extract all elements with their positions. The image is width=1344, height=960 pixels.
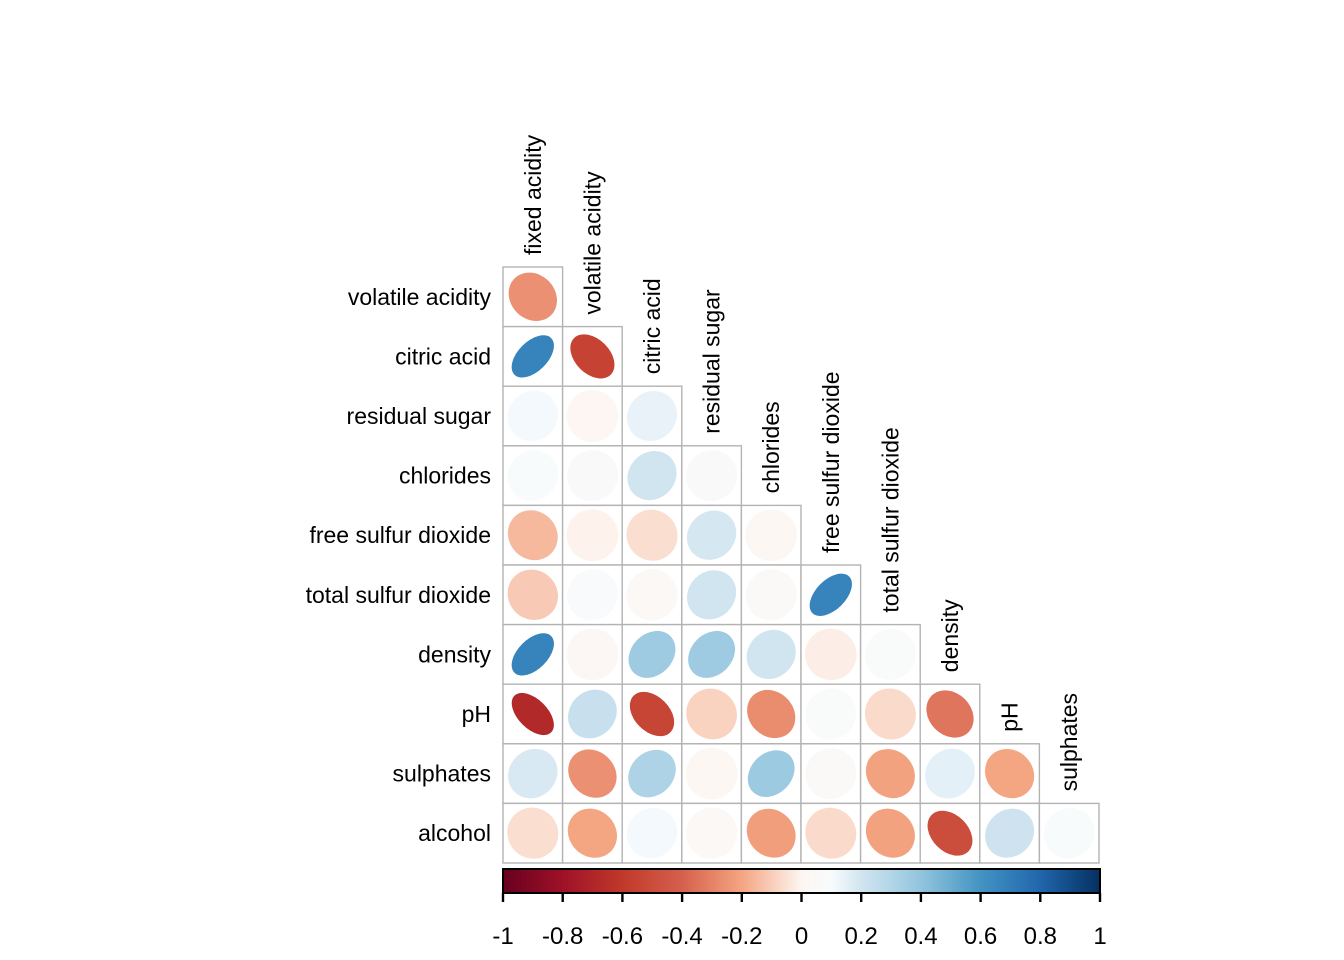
colorbar-tick-label: -1 (492, 923, 513, 950)
colorbar-tick-label: -0.6 (602, 923, 643, 950)
corrplot-svg: volatile aciditycitric acidresidual suga… (0, 0, 1344, 960)
column-label-volatile-acidity: volatile acidity (579, 171, 605, 315)
column-label-density: density (937, 599, 963, 672)
colorbar-tick-label: -0.4 (661, 923, 702, 950)
row-label-density: density (418, 641, 491, 667)
colorbar-tick-label: 1 (1093, 923, 1106, 950)
column-label-citric-acid: citric acid (639, 278, 665, 374)
row-label-citric-acid: citric acid (395, 343, 491, 369)
row-label-volatile-acidity: volatile acidity (348, 284, 492, 310)
colorbar-tick-label: 0.4 (904, 923, 937, 950)
colorbar-tick-label: 0 (795, 923, 808, 950)
column-label-pH: pH (997, 702, 1023, 731)
row-label-alcohol: alcohol (418, 820, 491, 846)
row-label-sulphates: sulphates (393, 761, 491, 787)
row-label-residual-sugar: residual sugar (347, 403, 492, 429)
row-label-total-sulfur-dioxide: total sulfur dioxide (306, 582, 491, 608)
colorbar-tick-label: 0.6 (964, 923, 997, 950)
colorbar-gradient[interactable] (503, 869, 1100, 893)
column-label-sulphates: sulphates (1056, 693, 1082, 791)
colorbar-tick-label: -0.2 (721, 923, 762, 950)
column-label-residual-sugar: residual sugar (699, 289, 725, 434)
column-label-chlorides: chlorides (758, 401, 784, 493)
colorbar-tick-label: -0.8 (542, 923, 583, 950)
row-label-free-sulfur-dioxide: free sulfur dioxide (309, 522, 491, 548)
correlation-plot-root: volatile aciditycitric acidresidual suga… (0, 0, 1344, 960)
row-label-pH: pH (462, 701, 491, 727)
column-label-free-sulfur-dioxide: free sulfur dioxide (818, 371, 844, 553)
colorbar-tick-label: 0.8 (1024, 923, 1057, 950)
row-label-chlorides: chlorides (399, 463, 491, 489)
colorbar-tick-label: 0.2 (845, 923, 878, 950)
column-label-total-sulfur-dioxide: total sulfur dioxide (877, 427, 903, 612)
column-label-fixed-acidity: fixed acidity (520, 134, 546, 255)
